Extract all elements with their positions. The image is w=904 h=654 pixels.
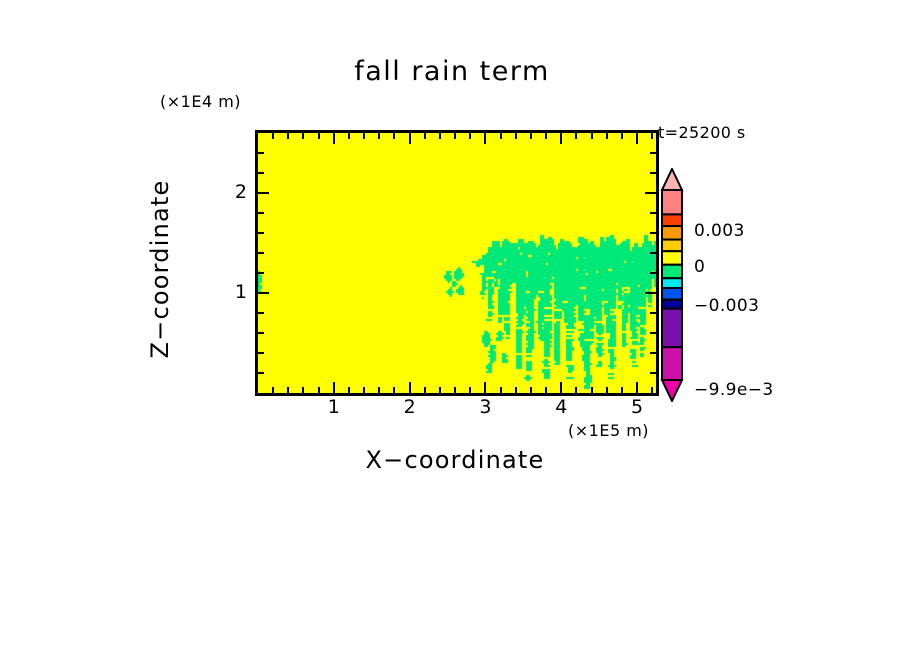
x-minor-tick	[302, 387, 304, 393]
x-major-tick-top	[409, 133, 411, 144]
colorbar-band	[662, 214, 682, 226]
y-major-tick	[258, 192, 269, 194]
x-minor-tick-top	[500, 133, 502, 139]
y-axis-title: Z−coordinate	[146, 69, 174, 469]
x-tick-label: 3	[465, 396, 505, 418]
x-major-tick-top	[484, 133, 486, 144]
colorbar-tick-label: 0	[694, 257, 705, 277]
y-minor-tick	[258, 332, 264, 334]
y-tick-label: 2	[213, 181, 247, 203]
x-major-tick	[409, 382, 411, 393]
x-minor-tick-top	[454, 133, 456, 139]
x-minor-tick	[393, 387, 395, 393]
colorbar-band	[662, 300, 682, 309]
x-minor-tick-top	[393, 133, 395, 139]
x-major-tick	[333, 382, 335, 393]
colorbar-bottom-arrow	[662, 380, 682, 401]
colorbar	[655, 168, 689, 402]
x-minor-tick-top	[575, 133, 577, 139]
colorbar-band	[662, 190, 682, 214]
colorbar-band	[662, 265, 682, 279]
x-minor-tick-top	[606, 133, 608, 139]
x-minor-tick	[424, 387, 426, 393]
y-minor-tick	[258, 272, 264, 274]
x-minor-tick	[454, 387, 456, 393]
colorbar-band	[662, 278, 682, 288]
x-minor-tick	[530, 387, 532, 393]
x-major-tick-top	[560, 133, 562, 144]
colorbar-band	[662, 251, 682, 265]
x-minor-tick	[606, 387, 608, 393]
x-minor-tick	[272, 387, 274, 393]
x-major-tick-top	[333, 133, 335, 144]
x-minor-tick-top	[469, 133, 471, 139]
y-minor-tick	[258, 252, 264, 254]
x-minor-tick-top	[515, 133, 517, 139]
x-minor-tick-top	[621, 133, 623, 139]
x-minor-tick-top	[530, 133, 532, 139]
colorbar-tick-label: −9.9e−3	[694, 380, 774, 400]
x-minor-tick-top	[439, 133, 441, 139]
x-minor-tick-top	[591, 133, 593, 139]
x-tick-label: 5	[617, 396, 657, 418]
x-minor-tick	[621, 387, 623, 393]
x-minor-tick	[575, 387, 577, 393]
x-tick-label: 4	[541, 396, 581, 418]
x-minor-tick-top	[378, 133, 380, 139]
y-major-tick	[258, 292, 269, 294]
x-minor-tick-top	[272, 133, 274, 139]
x-axis-title: X−coordinate	[255, 446, 655, 474]
x-minor-tick-top	[287, 133, 289, 139]
time-annotation: t=25200 s	[658, 123, 746, 142]
y-minor-tick	[258, 372, 264, 374]
y-minor-tick	[258, 312, 264, 314]
x-minor-tick-top	[318, 133, 320, 139]
x-tick-label: 2	[390, 396, 430, 418]
heatmap-canvas	[258, 133, 656, 393]
plot-area	[255, 130, 659, 396]
x-minor-tick	[287, 387, 289, 393]
x-minor-tick	[363, 387, 365, 393]
x-minor-tick	[591, 387, 593, 393]
x-minor-tick-top	[348, 133, 350, 139]
x-minor-tick	[500, 387, 502, 393]
x-minor-tick-top	[363, 133, 365, 139]
x-minor-tick-top	[545, 133, 547, 139]
colorbar-band	[662, 240, 682, 252]
y-minor-tick	[258, 172, 264, 174]
colorbar-svg	[655, 168, 689, 402]
x-minor-tick	[348, 387, 350, 393]
y-minor-tick	[258, 232, 264, 234]
x-major-tick	[560, 382, 562, 393]
y-tick-label: 1	[213, 281, 247, 303]
x-minor-tick	[651, 387, 653, 393]
x-tick-label: 1	[314, 396, 354, 418]
y-minor-tick	[258, 352, 264, 354]
x-minor-tick-top	[651, 133, 653, 139]
x-minor-tick	[545, 387, 547, 393]
colorbar-band	[662, 226, 682, 240]
x-axis-unit-label: (×1E5 m)	[568, 421, 649, 440]
x-minor-tick	[469, 387, 471, 393]
colorbar-tick-label: 0.003	[694, 221, 745, 241]
x-minor-tick-top	[424, 133, 426, 139]
page-title: fall rain term	[0, 56, 904, 87]
y-minor-tick	[258, 152, 264, 154]
x-major-tick-top	[636, 133, 638, 144]
x-major-tick	[484, 382, 486, 393]
colorbar-tick-label: −0.003	[694, 296, 759, 316]
x-major-tick	[636, 382, 638, 393]
colorbar-band	[662, 288, 682, 300]
y-minor-tick-right	[650, 152, 656, 154]
x-minor-tick-top	[302, 133, 304, 139]
x-minor-tick	[378, 387, 380, 393]
y-minor-tick	[258, 212, 264, 214]
x-minor-tick	[439, 387, 441, 393]
x-minor-tick	[515, 387, 517, 393]
colorbar-top-arrow	[662, 169, 682, 190]
colorbar-band	[662, 347, 682, 380]
x-minor-tick	[318, 387, 320, 393]
colorbar-band	[662, 309, 682, 347]
